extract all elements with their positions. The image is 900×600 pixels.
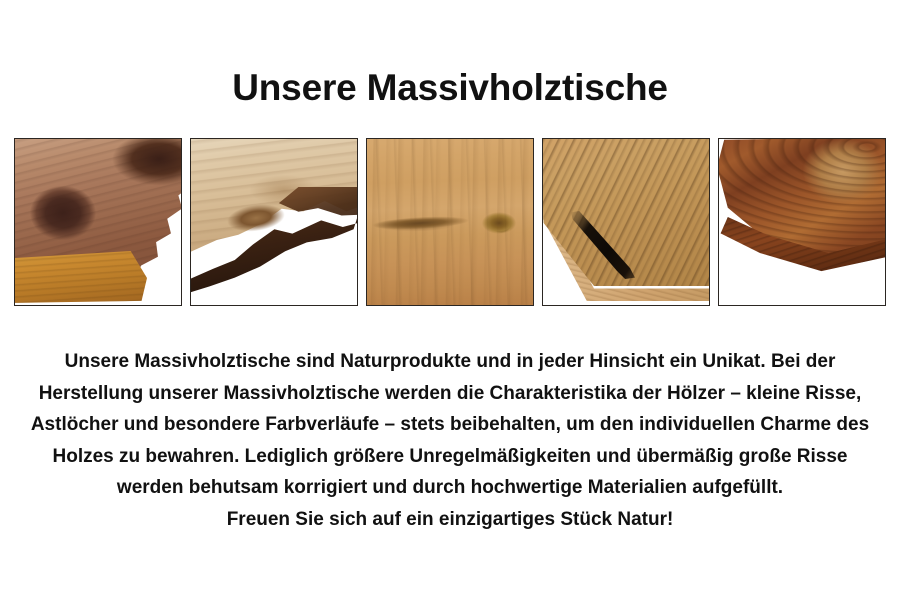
wood-texture-art — [367, 139, 533, 305]
gallery-image-honey-wood-grain-closeup-with-knot[interactable] — [366, 138, 534, 306]
wood-texture-art — [191, 139, 357, 305]
gallery-image-sheesham-rosewood-corner-figured-grain[interactable] — [718, 138, 886, 306]
body-line: werden behutsam korrigiert und durch hoc… — [0, 472, 900, 504]
gallery-image-rough-sawn-mango-corner-with-crack[interactable] — [542, 138, 710, 306]
body-line: Astlöcher und besondere Farbverläufe – s… — [0, 409, 900, 441]
wood-texture-art — [543, 139, 709, 305]
gallery-image-pale-slab-with-dark-bark-edge[interactable] — [190, 138, 358, 306]
gallery-image-live-edge-slab-corner-with-knot[interactable] — [14, 138, 182, 306]
wood-texture-art — [719, 139, 885, 305]
page-title: Unsere Massivholztische — [0, 66, 900, 110]
wood-image-gallery — [14, 138, 886, 306]
body-line: Freuen Sie sich auf ein einzigartiges St… — [0, 504, 900, 536]
body-line: Unsere Massivholztische sind Naturproduk… — [0, 346, 900, 378]
body-line: Herstellung unserer Massivholztische wer… — [0, 378, 900, 410]
wood-texture-art — [15, 139, 181, 305]
info-banner-page: Unsere Massivholztische — [0, 0, 900, 600]
body-paragraph: Unsere Massivholztische sind Naturproduk… — [0, 346, 900, 535]
body-line: Holzes zu bewahren. Lediglich größere Un… — [0, 441, 900, 473]
